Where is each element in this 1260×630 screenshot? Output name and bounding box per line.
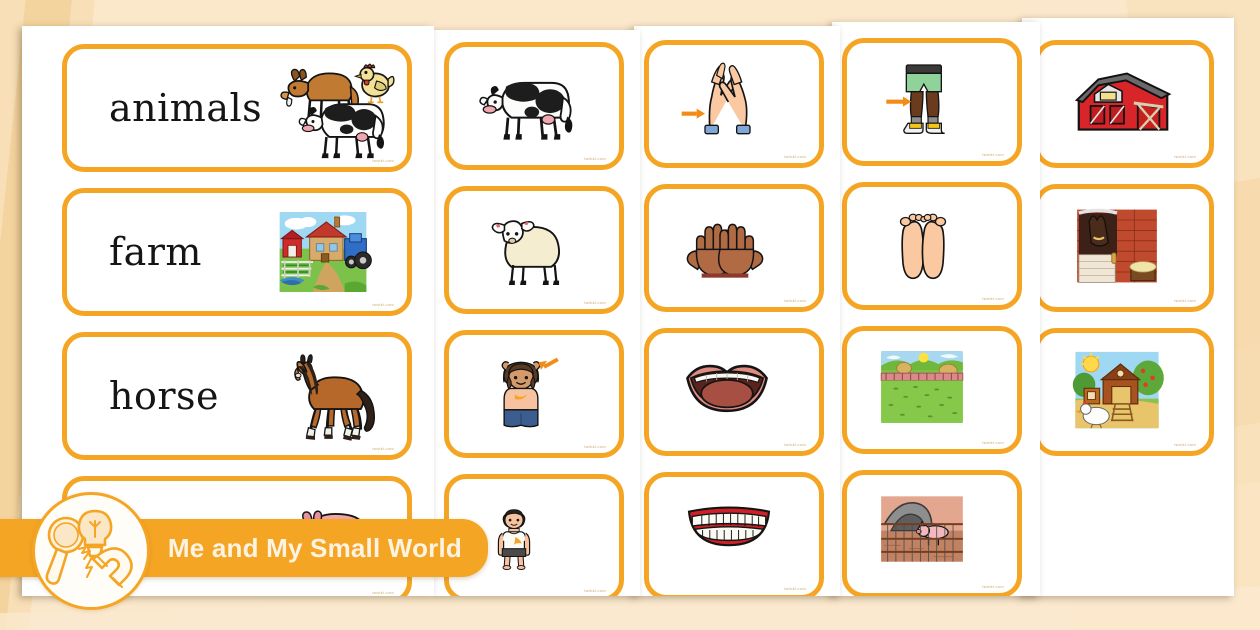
word-card[interactable]: twinkl.com (842, 182, 1022, 310)
child-head-arrow-picture (475, 344, 593, 444)
word-card[interactable]: farm (62, 188, 412, 316)
pointer-arrow (886, 97, 911, 107)
word-card[interactable]: horse (62, 332, 412, 460)
farmyard-scene-picture (273, 202, 391, 302)
watermark: twinkl.com (1174, 154, 1196, 159)
word-card[interactable]: twinkl.com (644, 328, 824, 456)
watermark: twinkl.com (784, 442, 806, 447)
watermark: twinkl.com (584, 444, 606, 449)
watermark: twinkl.com (982, 152, 1004, 157)
watermark: twinkl.com (784, 298, 806, 303)
page-stage: twinkl.com (0, 0, 1260, 630)
legs-arrow-picture (873, 52, 991, 152)
pointer-arrow (682, 109, 705, 119)
word-card[interactable]: twinkl.com (644, 40, 824, 168)
watermark: twinkl.com (372, 302, 394, 307)
watermark: twinkl.com (1174, 298, 1196, 303)
word-card[interactable]: animals (62, 44, 412, 172)
watermark: twinkl.com (584, 156, 606, 161)
child-body-arrow-picture (475, 488, 593, 588)
word-card[interactable]: twinkl.com (444, 42, 624, 170)
mouth-picture (675, 342, 793, 442)
card-word: animals (67, 86, 262, 130)
watermark: twinkl.com (584, 588, 606, 593)
watermark: twinkl.com (784, 154, 806, 159)
brown-horse-picture (273, 346, 391, 446)
watermark: twinkl.com (1174, 442, 1196, 447)
word-card[interactable]: twinkl.com (842, 38, 1022, 166)
farmhouse-hen-picture (1065, 342, 1183, 442)
word-card[interactable]: twinkl.com (1034, 40, 1214, 168)
hands-picture (675, 198, 793, 298)
word-card[interactable]: twinkl.com (444, 186, 624, 314)
feet-picture (873, 196, 991, 296)
red-barn-picture (1065, 54, 1183, 154)
word-card[interactable]: twinkl.com (444, 330, 624, 458)
watermark: twinkl.com (982, 584, 1004, 589)
card-word: horse (67, 374, 219, 418)
watermark: twinkl.com (584, 300, 606, 305)
horse-stable-picture (1065, 198, 1183, 298)
word-card[interactable]: twinkl.com (1034, 328, 1214, 456)
sheet-5[interactable]: twinkl.com (1022, 18, 1234, 596)
sheet-4[interactable]: twinkl.com twinkl.com (832, 22, 1040, 596)
brand-banner-text: Me and My Small World (168, 533, 462, 564)
watermark: twinkl.com (372, 446, 394, 451)
word-card[interactable]: twinkl.com (1034, 184, 1214, 312)
arms-arrow-picture (675, 54, 793, 154)
word-card[interactable]: twinkl.com (842, 470, 1022, 596)
pointer-arrow (539, 359, 558, 370)
watermark: twinkl.com (372, 158, 394, 163)
card-word: farm (67, 230, 202, 274)
field-picture (873, 340, 991, 440)
watermark: twinkl.com (982, 440, 1004, 445)
watermark: twinkl.com (372, 590, 394, 595)
teeth-picture (675, 486, 793, 586)
watermark: twinkl.com (982, 296, 1004, 301)
sheep-picture (475, 200, 593, 300)
goat-chicken-cow-picture (273, 58, 391, 158)
word-card[interactable]: twinkl.com (842, 326, 1022, 454)
cow-picture (475, 56, 593, 156)
pig-sty-picture (873, 484, 991, 584)
magnifier-bulb-magnet-logo (32, 492, 150, 610)
word-card[interactable]: twinkl.com (644, 472, 824, 596)
sheet-2[interactable]: twinkl.com (434, 30, 640, 596)
watermark: twinkl.com (784, 586, 806, 591)
sheet-3[interactable]: twinkl.com (634, 26, 840, 596)
word-card[interactable]: twinkl.com (644, 184, 824, 312)
